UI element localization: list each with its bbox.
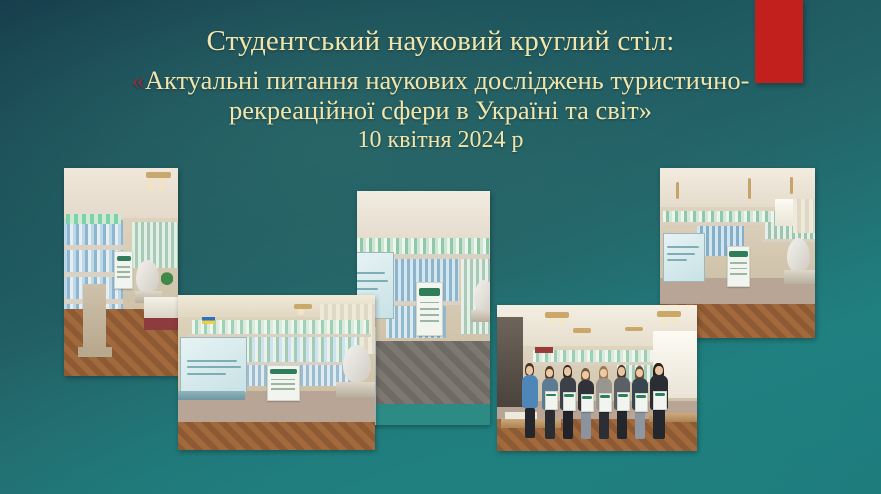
red-books <box>144 318 178 330</box>
list-item <box>595 366 613 443</box>
photo-scene <box>178 295 375 450</box>
screen-text-line <box>187 366 240 368</box>
certificate <box>545 391 558 410</box>
legs <box>545 410 555 439</box>
chandelier-bulb <box>661 317 667 324</box>
list-item <box>631 366 649 443</box>
certificate-header-band <box>564 394 573 396</box>
page-title: Студентський науковий круглий стіл: <box>0 26 881 57</box>
chandelier-bulb <box>559 318 565 325</box>
photo-award-presentation-center <box>357 191 490 425</box>
podium-base <box>78 347 112 357</box>
chandelier <box>625 327 643 331</box>
background-bleed <box>376 404 490 425</box>
event-date: 10 квітня 2024 р <box>0 128 881 153</box>
certificate-header-band <box>729 251 747 256</box>
certificate-text-line <box>271 383 295 385</box>
certificate <box>267 365 301 401</box>
certificate-header-band <box>419 288 440 295</box>
ceiling <box>357 191 490 242</box>
screen-text-line <box>187 373 226 375</box>
certificate <box>599 393 612 412</box>
certificate <box>727 246 751 287</box>
doorway <box>497 317 523 408</box>
legs-jeans <box>581 410 591 439</box>
chandelier-stem <box>790 177 793 194</box>
chandelier-stem <box>748 178 751 198</box>
list-item <box>541 366 559 443</box>
bust-pedestal <box>784 270 815 284</box>
legs <box>563 409 573 439</box>
bookshelf-top-row <box>192 320 369 334</box>
subtitle-line-1-text: Актуальні питання наукових досліджень ту… <box>145 65 750 95</box>
chandelier-bulb <box>148 178 154 190</box>
photo-scene <box>64 168 178 376</box>
bookshelf-right <box>132 222 178 268</box>
legs <box>525 408 535 439</box>
certificate-header-band <box>546 394 555 396</box>
certificate-text-line <box>730 268 747 270</box>
list-item <box>521 363 539 443</box>
quote-open-mark: « <box>132 65 145 95</box>
bust-pedestal <box>336 382 375 398</box>
certificate-text-line <box>117 271 130 273</box>
bust-sculpture <box>343 345 371 382</box>
list-item <box>649 363 669 443</box>
head <box>618 367 625 376</box>
list-item <box>559 365 577 444</box>
screen-text-line <box>667 246 698 248</box>
certificate-text-line <box>271 388 295 390</box>
certificate-text-line <box>117 266 130 268</box>
certificate-header-band <box>636 395 645 397</box>
head <box>655 366 663 375</box>
floor <box>178 422 375 450</box>
certificate <box>617 392 630 411</box>
certificate <box>416 282 443 335</box>
certificate-text-line <box>420 320 439 322</box>
subtitle-line-1: «Актуальні питання наукових досліджень т… <box>0 66 881 94</box>
curtain <box>793 199 815 233</box>
screen-text-line <box>357 288 378 290</box>
certificate-header-band <box>600 395 609 397</box>
certificate <box>635 393 648 412</box>
shelf-line <box>762 239 815 242</box>
bust-pedestal <box>471 310 490 322</box>
certificate-header-band <box>117 256 131 261</box>
list-item <box>613 365 631 444</box>
photo-group-participants <box>497 305 697 451</box>
screen-text-line <box>667 253 694 255</box>
photo-award-presentation-lower-left <box>178 295 375 450</box>
screen-text-line <box>187 360 236 362</box>
screen-text-line <box>357 280 388 282</box>
certificate-header-band <box>582 396 591 398</box>
certificate-header-band <box>618 394 627 396</box>
projector-screen <box>180 337 247 393</box>
bookshelf-top-row <box>66 214 121 224</box>
bust-sculpture <box>474 280 490 313</box>
certificate-text-line <box>730 262 747 264</box>
certificate-text-line <box>420 302 439 304</box>
projector-screen <box>663 233 705 283</box>
bookshelf-middle <box>237 337 359 362</box>
certificate <box>653 391 667 411</box>
certificate-text-line <box>420 314 439 316</box>
torso <box>522 375 538 409</box>
chandelier <box>573 328 591 332</box>
certificate <box>581 394 594 413</box>
chandelier <box>657 311 681 317</box>
certificate-header-band <box>270 369 296 374</box>
photo-library-student-certificate-left <box>64 168 178 376</box>
chandelier <box>294 304 312 309</box>
screen-text-line <box>667 259 687 261</box>
head <box>526 366 533 375</box>
head <box>564 367 571 376</box>
podium <box>83 284 106 351</box>
photo-scene <box>497 305 697 451</box>
certificate-text-line <box>271 379 295 381</box>
bust-sculpture <box>136 260 159 293</box>
bench <box>178 391 245 400</box>
red-binders <box>535 347 553 353</box>
certificate <box>114 251 133 288</box>
legs <box>617 409 627 439</box>
window <box>775 199 795 226</box>
subtitle-line-2: рекреаційної сфери в Україні та світ» <box>0 96 881 124</box>
legs <box>653 409 664 439</box>
legs <box>599 410 609 439</box>
screen-text-line <box>357 272 385 274</box>
legs-jeans <box>635 410 645 439</box>
chandelier-bulb <box>671 317 677 324</box>
slide-title-block: Студентський науковий круглий стіл: «Акт… <box>0 26 881 153</box>
chandelier-bulb <box>549 318 555 325</box>
certificate-header-band <box>655 393 665 395</box>
certificate-text-line <box>730 273 747 275</box>
certificate-text-line <box>420 308 439 310</box>
photo-scene <box>357 191 490 425</box>
chandelier-stem <box>676 182 679 199</box>
table-white <box>144 297 178 318</box>
chandelier-bulb <box>298 309 304 315</box>
shelf-line <box>64 245 123 250</box>
chandelier <box>545 312 569 318</box>
certificate-text-line <box>117 276 130 278</box>
chandelier-bulb <box>159 178 165 190</box>
flag <box>202 317 216 325</box>
presentation-slide: Студентський науковий круглий стіл: «Акт… <box>0 0 881 494</box>
certificate <box>563 392 576 411</box>
list-item <box>577 368 595 444</box>
plant <box>161 266 174 287</box>
